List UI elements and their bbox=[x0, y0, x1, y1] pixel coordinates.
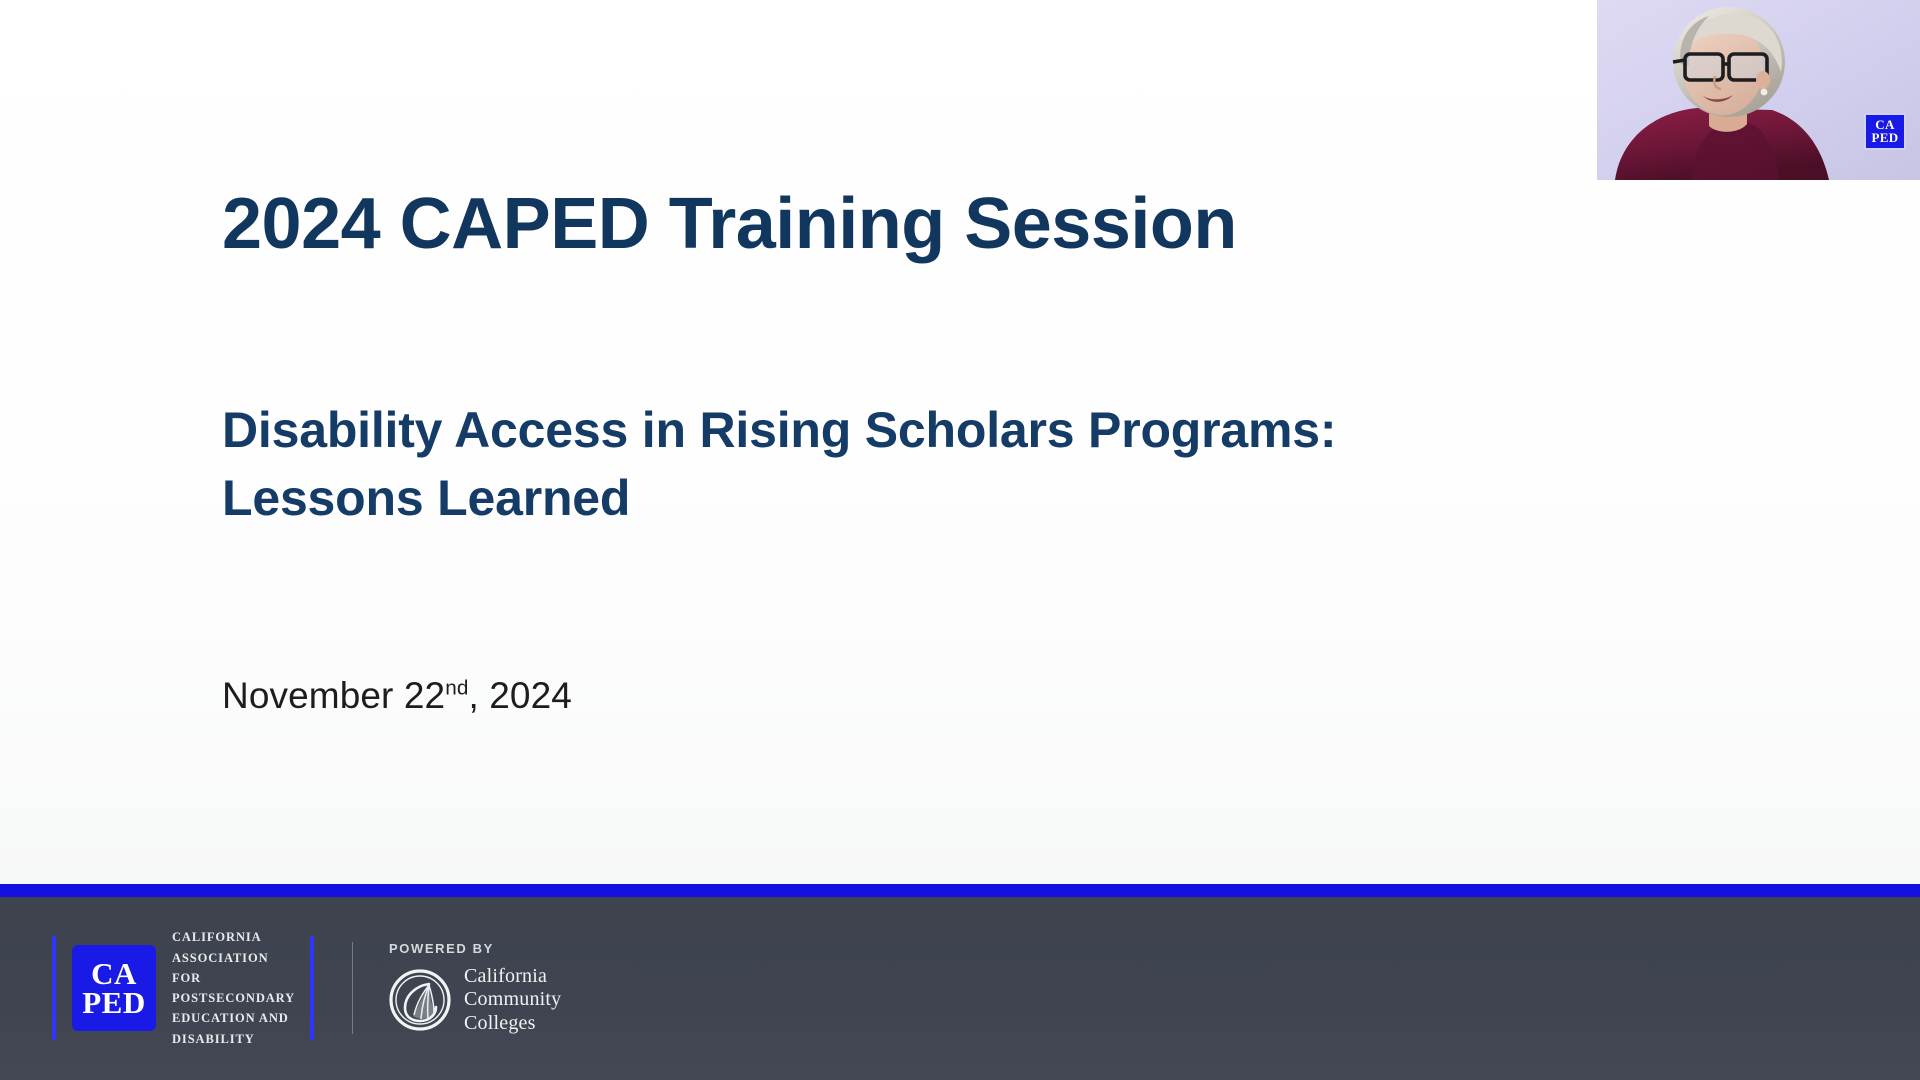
caped-logo-lockup: CA PED California Association for Postse… bbox=[52, 936, 314, 1040]
footer-logo-row: CA PED California Association for Postse… bbox=[52, 933, 561, 1043]
slide-date: November 22nd, 2024 bbox=[222, 675, 572, 717]
caped-watermark-badge: CA PED bbox=[1864, 113, 1906, 150]
date-prefix: November 22 bbox=[222, 675, 445, 716]
slide-subtitle: Disability Access in Rising Scholars Pro… bbox=[222, 396, 1402, 532]
footer-vertical-divider bbox=[352, 942, 353, 1034]
date-block: November 22nd, 2024 bbox=[222, 675, 572, 717]
ccc-wordmark: California Community Colleges bbox=[464, 965, 561, 1035]
ccc-line-3: Colleges bbox=[464, 1012, 536, 1034]
caped-logo-badge: CA PED bbox=[72, 945, 156, 1031]
date-year: , 2024 bbox=[468, 675, 571, 716]
presenter-video-image bbox=[1597, 0, 1920, 180]
powered-by-block: Powered by bbox=[389, 938, 561, 1038]
caped-badge-line-2: PED bbox=[82, 988, 146, 1017]
ccc-line-2: Community bbox=[464, 988, 561, 1010]
california-community-colleges-seal-icon bbox=[389, 969, 451, 1031]
webcam-badge-line-2: PED bbox=[1872, 132, 1899, 144]
title-block: 2024 CAPED Training Session bbox=[222, 186, 1562, 262]
powered-by-label: Powered by bbox=[389, 941, 561, 956]
ccc-line-1: California bbox=[464, 965, 547, 987]
caped-tagline: California Association for Postsecondary… bbox=[172, 927, 300, 1049]
accent-divider-bar bbox=[0, 884, 1920, 897]
slide-title: 2024 CAPED Training Session bbox=[222, 186, 1562, 262]
subtitle-block: Disability Access in Rising Scholars Pro… bbox=[222, 396, 1472, 532]
caped-badge-line-1: CA bbox=[91, 959, 137, 988]
date-ordinal-suffix: nd bbox=[445, 677, 468, 700]
slide-footer: CA PED California Association for Postse… bbox=[0, 897, 1920, 1080]
presenter-webcam-thumbnail[interactable]: CA PED bbox=[1597, 0, 1920, 180]
ccc-logo-lockup: California Community Colleges bbox=[389, 965, 561, 1035]
